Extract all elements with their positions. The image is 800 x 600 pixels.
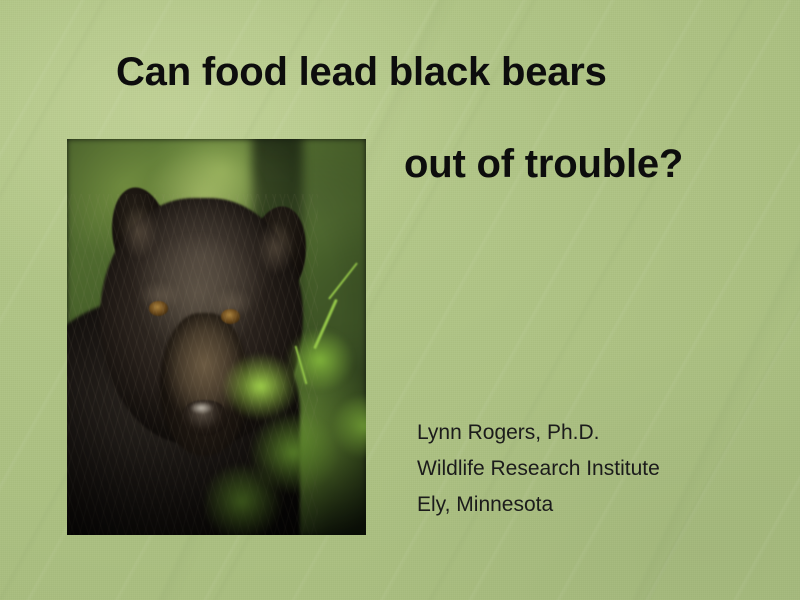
photo-vignette	[67, 139, 366, 535]
title-line-1: Can food lead black bears	[116, 50, 607, 95]
author-location: Ely, Minnesota	[417, 487, 757, 523]
title-line-2: out of trouble?	[404, 142, 683, 187]
photo-inner	[67, 139, 366, 535]
author-name: Lynn Rogers, Ph.D.	[417, 415, 757, 451]
author-credit: Lynn Rogers, Ph.D. Wildlife Research Ins…	[417, 415, 757, 523]
presentation-slide: Can food lead black bears out of trouble…	[0, 0, 800, 600]
black-bear-photo	[67, 139, 366, 535]
author-affiliation: Wildlife Research Institute	[417, 451, 757, 487]
